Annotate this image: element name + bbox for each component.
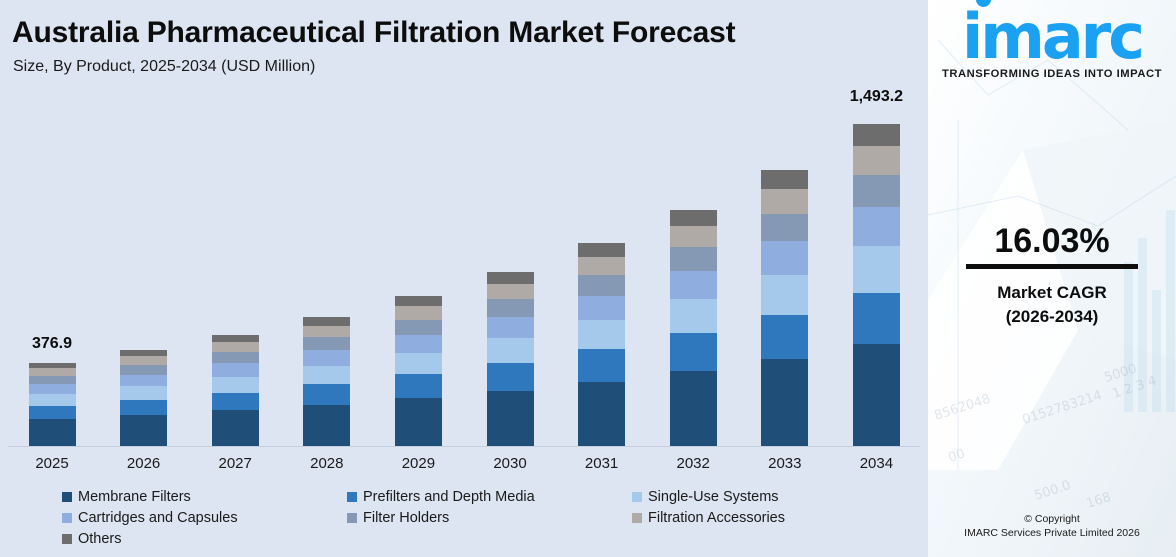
bar-segment-2027-s3[interactable] [212,363,259,376]
bar-column-2034[interactable] [853,115,900,446]
bar-segment-2031-s3[interactable] [578,296,625,321]
bar-segment-2032-s4[interactable] [670,247,717,271]
bar-segment-2031-s0[interactable] [578,382,625,446]
bar-segment-2034-s2[interactable] [853,246,900,292]
bar-segment-2026-s6[interactable] [120,350,167,357]
bar-segment-2034-s5[interactable] [853,146,900,175]
bar-segment-2026-s4[interactable] [120,365,167,375]
bar-segment-2025-s1[interactable] [29,406,76,419]
bar-column-2026[interactable] [120,350,167,446]
bar-segment-2029-s5[interactable] [395,306,442,319]
bar-segment-2033-s0[interactable] [761,359,808,446]
legend-item-membrane-filters[interactable]: Membrane Filters [62,489,347,505]
bar-segment-2026-s0[interactable] [120,415,167,446]
bar-segment-2025-s5[interactable] [29,368,76,376]
bar-segment-2034-s0[interactable] [853,344,900,446]
legend-row: Cartridges and Capsules Filter Holders F… [62,510,922,526]
bar-segment-2034-s1[interactable] [853,293,900,345]
bar-column-2032[interactable] [670,209,717,446]
legend-item-single-use-systems[interactable]: Single-Use Systems [632,489,917,505]
bar-segment-2027-s5[interactable] [212,342,259,352]
bar-segment-2027-s2[interactable] [212,377,259,393]
bar-column-2025[interactable] [29,362,76,446]
bar-segment-2032-s0[interactable] [670,371,717,446]
bar-segment-2025-s3[interactable] [29,384,76,394]
brand-side-panel: 0152783214 5000 500.0 8562048 1 2 3 4 16… [928,0,1176,557]
bar-segment-2028-s5[interactable] [303,326,350,338]
legend-swatch-icon [62,513,72,523]
bar-segment-2034-s6[interactable] [853,124,900,146]
bar-segment-2027-s1[interactable] [212,393,259,411]
copyright-block: © Copyright IMARC Services Private Limit… [928,513,1176,539]
x-tick-2033: 2033 [745,455,825,472]
bar-segment-2031-s5[interactable] [578,257,625,275]
cagr-divider [966,264,1138,269]
legend-label: Filter Holders [363,510,449,526]
bar-segment-2028-s6[interactable] [303,317,350,326]
bar-segment-2026-s1[interactable] [120,400,167,415]
bar-segment-2033-s5[interactable] [761,189,808,214]
bar-segment-2028-s4[interactable] [303,337,350,350]
bar-segment-2030-s1[interactable] [487,363,534,391]
infographic-root: Australia Pharmaceutical Filtration Mark… [0,0,1176,557]
chart-panel: Australia Pharmaceutical Filtration Mark… [0,0,928,557]
legend-item-filter-holders[interactable]: Filter Holders [347,510,632,526]
x-tick-2026: 2026 [104,455,184,472]
bar-segment-2033-s3[interactable] [761,241,808,275]
imarc-logo: imarc TRANSFORMING IDEAS INTO IMPACT [928,8,1176,80]
x-tick-2032: 2032 [653,455,733,472]
bar-total-label-2025: 376.9 [0,335,112,353]
x-tick-2028: 2028 [287,455,367,472]
logo-wordmark: imarc [962,8,1142,67]
bar-segment-2033-s2[interactable] [761,275,808,315]
legend-label: Filtration Accessories [648,510,785,526]
bar-segment-2029-s1[interactable] [395,374,442,398]
bar-segment-2030-s0[interactable] [487,391,534,446]
legend-row: Membrane Filters Prefilters and Depth Me… [62,489,922,505]
bar-segment-2025-s4[interactable] [29,376,76,384]
bar-segment-2032-s1[interactable] [670,333,717,371]
copyright-line-1: © Copyright [928,513,1176,525]
bar-segment-2030-s3[interactable] [487,317,534,338]
x-tick-2034: 2034 [836,455,916,472]
bar-segment-2029-s0[interactable] [395,398,442,446]
axis-baseline [8,446,920,447]
bar-segment-2032-s3[interactable] [670,271,717,300]
bar-segment-2029-s4[interactable] [395,320,442,335]
bar-segment-2026-s5[interactable] [120,356,167,365]
legend-swatch-icon [62,492,72,502]
bar-segment-2032-s6[interactable] [670,210,717,226]
bar-segment-2031-s6[interactable] [578,243,625,257]
copyright-line-2: IMARC Services Private Limited 2026 [928,527,1176,539]
bar-segment-2027-s4[interactable] [212,352,259,363]
x-tick-2027: 2027 [195,455,275,472]
bar-segment-2027-s6[interactable] [212,335,259,343]
bar-segment-2028-s3[interactable] [303,350,350,366]
x-tick-2029: 2029 [378,455,458,472]
bar-column-2029[interactable] [395,296,442,446]
bar-segment-2033-s4[interactable] [761,214,808,242]
x-tick-2030: 2030 [470,455,550,472]
legend-row: Others [62,531,922,547]
cagr-label-period: (2026-2034) [928,307,1176,327]
bar-column-2033[interactable] [761,170,808,446]
legend-label: Others [78,531,122,547]
bar-segment-2032-s2[interactable] [670,299,717,333]
bar-segment-2025-s2[interactable] [29,394,76,406]
legend-swatch-icon [632,492,642,502]
bar-segment-2028-s0[interactable] [303,405,350,446]
bar-segment-2034-s3[interactable] [853,207,900,246]
x-tick-2025: 2025 [12,455,92,472]
bar-column-2028[interactable] [303,317,350,446]
legend-swatch-icon [632,513,642,523]
bar-segment-2034-s4[interactable] [853,175,900,207]
legend-label: Single-Use Systems [648,489,779,505]
bar-segment-2029-s6[interactable] [395,296,442,306]
bar-segment-2029-s3[interactable] [395,335,442,353]
bar-column-2030[interactable] [487,272,534,446]
page-subtitle: Size, By Product, 2025-2034 (USD Million… [13,58,315,76]
x-tick-2031: 2031 [562,455,642,472]
legend-item-prefilters-and-depth-media[interactable]: Prefilters and Depth Media [347,489,632,505]
legend-item-filtration-accessories[interactable]: Filtration Accessories [632,510,917,526]
legend-label: Membrane Filters [78,489,191,505]
chart-legend: Membrane Filters Prefilters and Depth Me… [62,489,922,552]
bar-segment-2031-s4[interactable] [578,275,625,295]
bar-segment-2031-s2[interactable] [578,320,625,349]
legend-label: Cartridges and Capsules [78,510,238,526]
bar-segment-2030-s5[interactable] [487,284,534,300]
bar-segment-2029-s2[interactable] [395,353,442,374]
logo-text: imarc [962,0,1142,73]
bar-segment-2025-s0[interactable] [29,419,76,446]
bar-segment-2030-s4[interactable] [487,299,534,316]
bar-segment-2030-s6[interactable] [487,272,534,284]
bar-segment-2026-s3[interactable] [120,375,167,387]
bar-total-label-2034: 1,493.2 [816,88,936,106]
bar-segment-2033-s1[interactable] [761,315,808,359]
legend-swatch-icon [347,492,357,502]
page-title: Australia Pharmaceutical Filtration Mark… [12,16,735,50]
legend-label: Prefilters and Depth Media [363,489,535,505]
bar-column-2027[interactable] [212,335,259,446]
bar-segment-2033-s6[interactable] [761,170,808,189]
bar-column-2031[interactable] [578,243,625,446]
bar-segment-2028-s1[interactable] [303,384,350,405]
bar-segment-2030-s2[interactable] [487,338,534,363]
cagr-label-primary: Market CAGR [928,283,1176,303]
panel-background-watermark: 0152783214 5000 500.0 8562048 1 2 3 4 16… [928,0,1176,557]
legend-item-cartridges-and-capsules[interactable]: Cartridges and Capsules [62,510,347,526]
bar-segment-2031-s1[interactable] [578,349,625,381]
legend-swatch-icon [347,513,357,523]
cagr-value: 16.03% [928,222,1176,261]
legend-item-others[interactable]: Others [62,531,347,547]
bar-segment-2027-s0[interactable] [212,410,259,446]
bar-segment-2032-s5[interactable] [670,226,717,247]
legend-swatch-icon [62,534,72,544]
bar-segment-2026-s2[interactable] [120,386,167,400]
bar-segment-2028-s2[interactable] [303,366,350,384]
